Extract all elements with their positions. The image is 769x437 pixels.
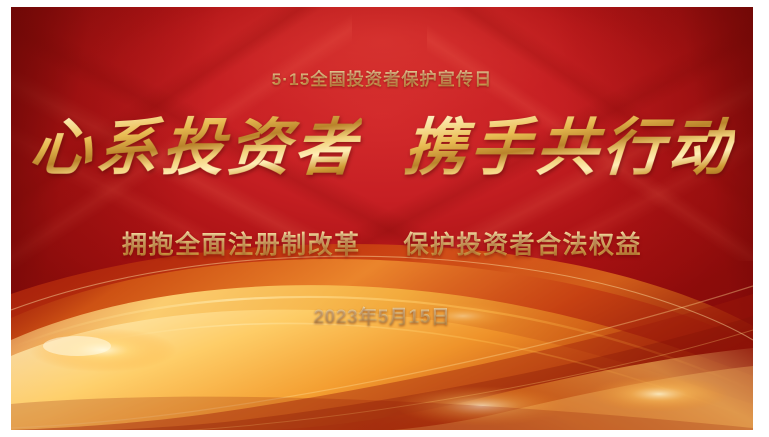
poster-canvas: 5·15全国投资者保护宣传日 心系投资者 携手共行动 拥抱全面注册制改革 保护投… <box>11 7 753 430</box>
poster-text-block: 5·15全国投资者保护宣传日 心系投资者 携手共行动 拥抱全面注册制改革 保护投… <box>11 7 753 430</box>
headline-right-phrase: 携手共行动 <box>402 115 737 180</box>
headline-row: 心系投资者 携手共行动 <box>11 115 753 180</box>
subheadline-right-phrase: 保护投资者合法权益 <box>403 231 642 259</box>
subheadline-row: 拥抱全面注册制改革 保护投资者合法权益 <box>11 225 753 261</box>
event-date-text: 2023年5月15日 <box>11 302 753 329</box>
headline-left-phrase: 心系投资者 <box>28 115 363 180</box>
event-eyebrow-text: 5·15全国投资者保护宣传日 <box>11 65 753 90</box>
subheadline-left-phrase: 拥抱全面注册制改革 <box>122 231 361 259</box>
